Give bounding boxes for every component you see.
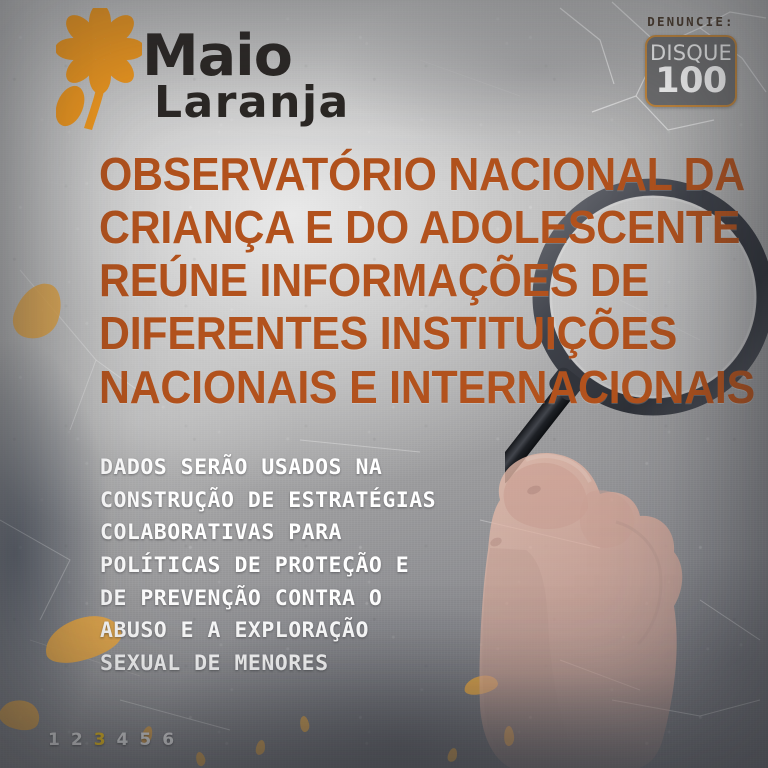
headline-block: OBSERVATÓRIO NACIONAL DA CRIANÇA E DO AD… (99, 148, 659, 414)
petal-decoration (503, 726, 515, 747)
denuncie-block: DENUNCIE: DISQUE 100 (632, 14, 750, 107)
pagination[interactable]: 1 2 3 4 5 6 (48, 730, 179, 750)
page-indicator-4[interactable]: 4 (117, 730, 134, 750)
petal-decoration (447, 747, 458, 762)
petal-decoration (8, 277, 68, 346)
headline-line-4: DIFERENTES INSTITUIÇÕES (99, 307, 620, 360)
body-copy-block: DADOS SERÃO USADOS NA CONSTRUÇÃO DE ESTR… (100, 452, 540, 681)
page-indicator-5[interactable]: 5 (139, 730, 156, 750)
body-line-4: POLÍTICAS DE PROTEÇÃO E (100, 550, 540, 583)
maio-laranja-logo: Maio Laranja (56, 8, 346, 136)
logo-line-laranja: Laranja (154, 81, 350, 125)
body-line-6: ABUSO E A EXPLORAÇÃO (100, 615, 540, 648)
disque-100-badge[interactable]: DISQUE 100 (645, 35, 737, 107)
orange-flower-icon (56, 8, 142, 132)
body-line-2: CONSTRUÇÃO DE ESTRATÉGIAS (100, 485, 540, 518)
petal-decoration (255, 740, 266, 756)
headline-line-5: NACIONAIS E INTERNACIONAIS (99, 361, 620, 414)
page-indicator-2[interactable]: 2 (71, 730, 88, 750)
body-line-1: DADOS SERÃO USADOS NA (100, 452, 540, 485)
headline-line-1: OBSERVATÓRIO NACIONAL DA (99, 148, 620, 201)
body-line-5: DE PREVENÇÃO CONTRA O (100, 583, 540, 616)
petal-decoration (194, 751, 207, 767)
body-line-3: COLABORATIVAS PARA (100, 517, 540, 550)
body-line-7: SEXUAL DE MENORES (100, 648, 540, 681)
disque-number: 100 (655, 65, 727, 98)
petal-decoration (298, 715, 311, 733)
headline-line-3: REÚNE INFORMAÇÕES DE (99, 254, 620, 307)
petal-decoration (0, 694, 44, 737)
logo-wordmark: Maio Laranja (142, 28, 350, 125)
page-indicator-3[interactable]: 3 (94, 730, 111, 750)
poster-canvas: Maio Laranja DENUNCIE: DISQUE 100 OBSERV… (0, 0, 768, 768)
page-indicator-1[interactable]: 1 (48, 730, 65, 750)
headline-line-2: CRIANÇA E DO ADOLESCENTE (99, 201, 620, 254)
denuncie-label: DENUNCIE: (632, 14, 750, 29)
page-indicator-6[interactable]: 6 (162, 730, 179, 750)
